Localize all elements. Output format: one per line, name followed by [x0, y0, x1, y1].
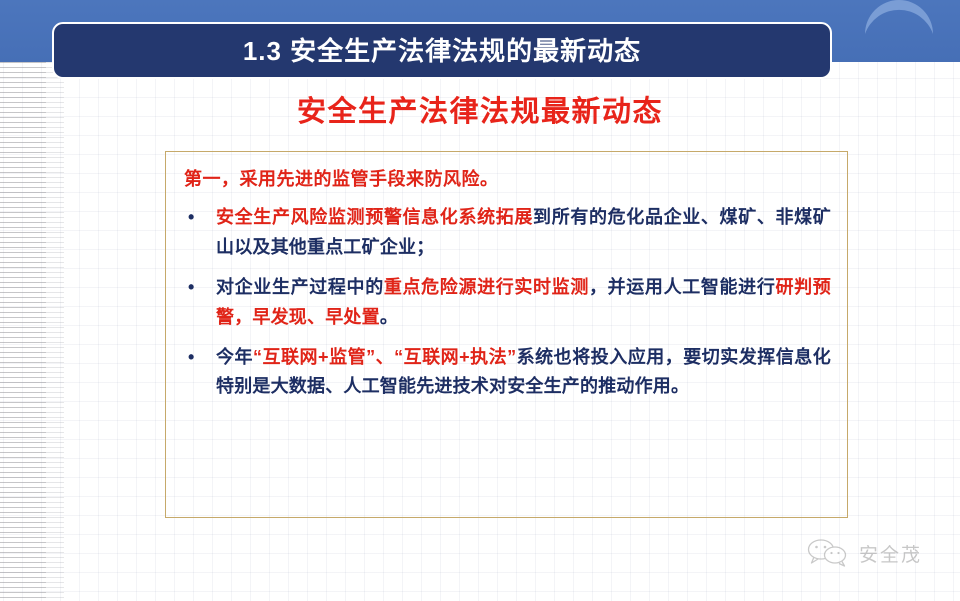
wechat-bubble-icon: [806, 538, 850, 568]
bullet-segment: “互联网+监管”、“互联网+执法”: [253, 347, 516, 367]
watermark: 安全茂: [806, 538, 922, 568]
list-item: • 今年“互联网+监管”、“互联网+执法”系统也将投入应用，要切实发挥信息化特别…: [182, 343, 831, 403]
bullet-segment: ，并运用人工智能进行: [589, 277, 776, 297]
watermark-text: 安全茂: [859, 540, 922, 567]
content-box: 第一，采用先进的监管手段来防风险。 • 安全生产风险监测预警信息化系统拓展到所有…: [165, 151, 848, 518]
bullet-marker-icon: •: [188, 343, 195, 373]
background-left-stripes: [0, 62, 46, 601]
slide-title: 1.3 安全生产法律法规的最新动态: [243, 38, 641, 64]
bullet-marker-icon: •: [188, 273, 195, 303]
list-item: • 对企业生产过程中的重点危险源进行实时监测，并运用人工智能进行研判预警，早发现…: [182, 273, 831, 333]
bullet-segment: 今年: [216, 347, 253, 367]
bullet-segment: 重点危险源进行实时监测: [384, 277, 589, 297]
bullet-segment: 对企业生产过程中的: [216, 277, 384, 297]
bullet-marker-icon: •: [188, 203, 195, 233]
bullet-list: • 安全生产风险监测预警信息化系统拓展到所有的危化品企业、煤矿、非煤矿山以及其他…: [182, 203, 831, 402]
bullet-segment: 。: [380, 307, 398, 327]
slide-title-plate: 1.3 安全生产法律法规的最新动态: [52, 22, 832, 79]
bullet-segment: 安全生产风险监测预警信息化系统拓展: [216, 207, 533, 227]
page-heading: 安全生产法律法规最新动态: [0, 95, 960, 130]
list-item: • 安全生产风险监测预警信息化系统拓展到所有的危化品企业、煤矿、非煤矿山以及其他…: [182, 203, 831, 263]
background-left-stripes-fade: [46, 62, 64, 601]
slide-root: 1.3 安全生产法律法规的最新动态 安全生产法律法规最新动态 第一，采用先进的监…: [0, 0, 960, 601]
lead-paragraph: 第一，采用先进的监管手段来防风险。: [184, 166, 831, 193]
